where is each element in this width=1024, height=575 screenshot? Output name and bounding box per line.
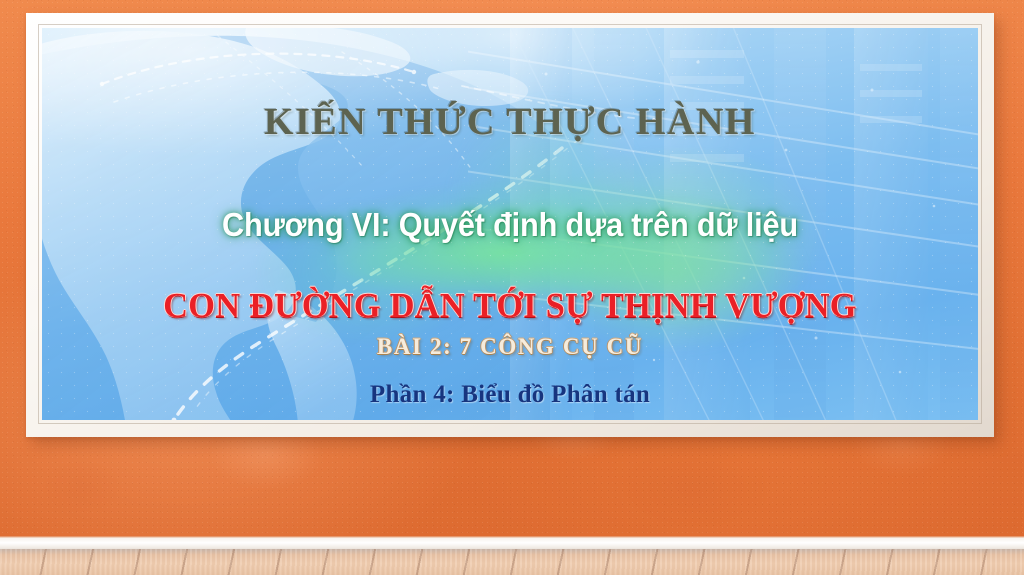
wooden-floor xyxy=(0,549,1024,575)
slide-chapter-title: Chương VI: Quyết định dựa trên dữ liệu xyxy=(75,206,945,244)
slide-course-title: CON ĐƯỜNG DẪN TỚI SỰ THỊNH VƯỢNG xyxy=(51,286,968,326)
presentation-slide: KIẾN THỨC THỰC HÀNH Chương VI: Quyết địn… xyxy=(42,28,978,420)
floor-plank-lines xyxy=(0,549,1024,575)
slide-photo-scene: KIẾN THỨC THỰC HÀNH Chương VI: Quyết địn… xyxy=(0,0,1024,575)
slide-heading: KIẾN THỨC THỰC HÀNH xyxy=(42,100,978,144)
slide-lesson-title: BÀI 2: 7 CÔNG CỤ CŨ xyxy=(42,334,978,360)
slide-text-layer: KIẾN THỨC THỰC HÀNH Chương VI: Quyết địn… xyxy=(42,28,978,420)
slide-part-title: Phần 4: Biểu đồ Phân tán xyxy=(42,381,978,409)
picture-frame: KIẾN THỨC THỰC HÀNH Chương VI: Quyết địn… xyxy=(26,13,994,437)
